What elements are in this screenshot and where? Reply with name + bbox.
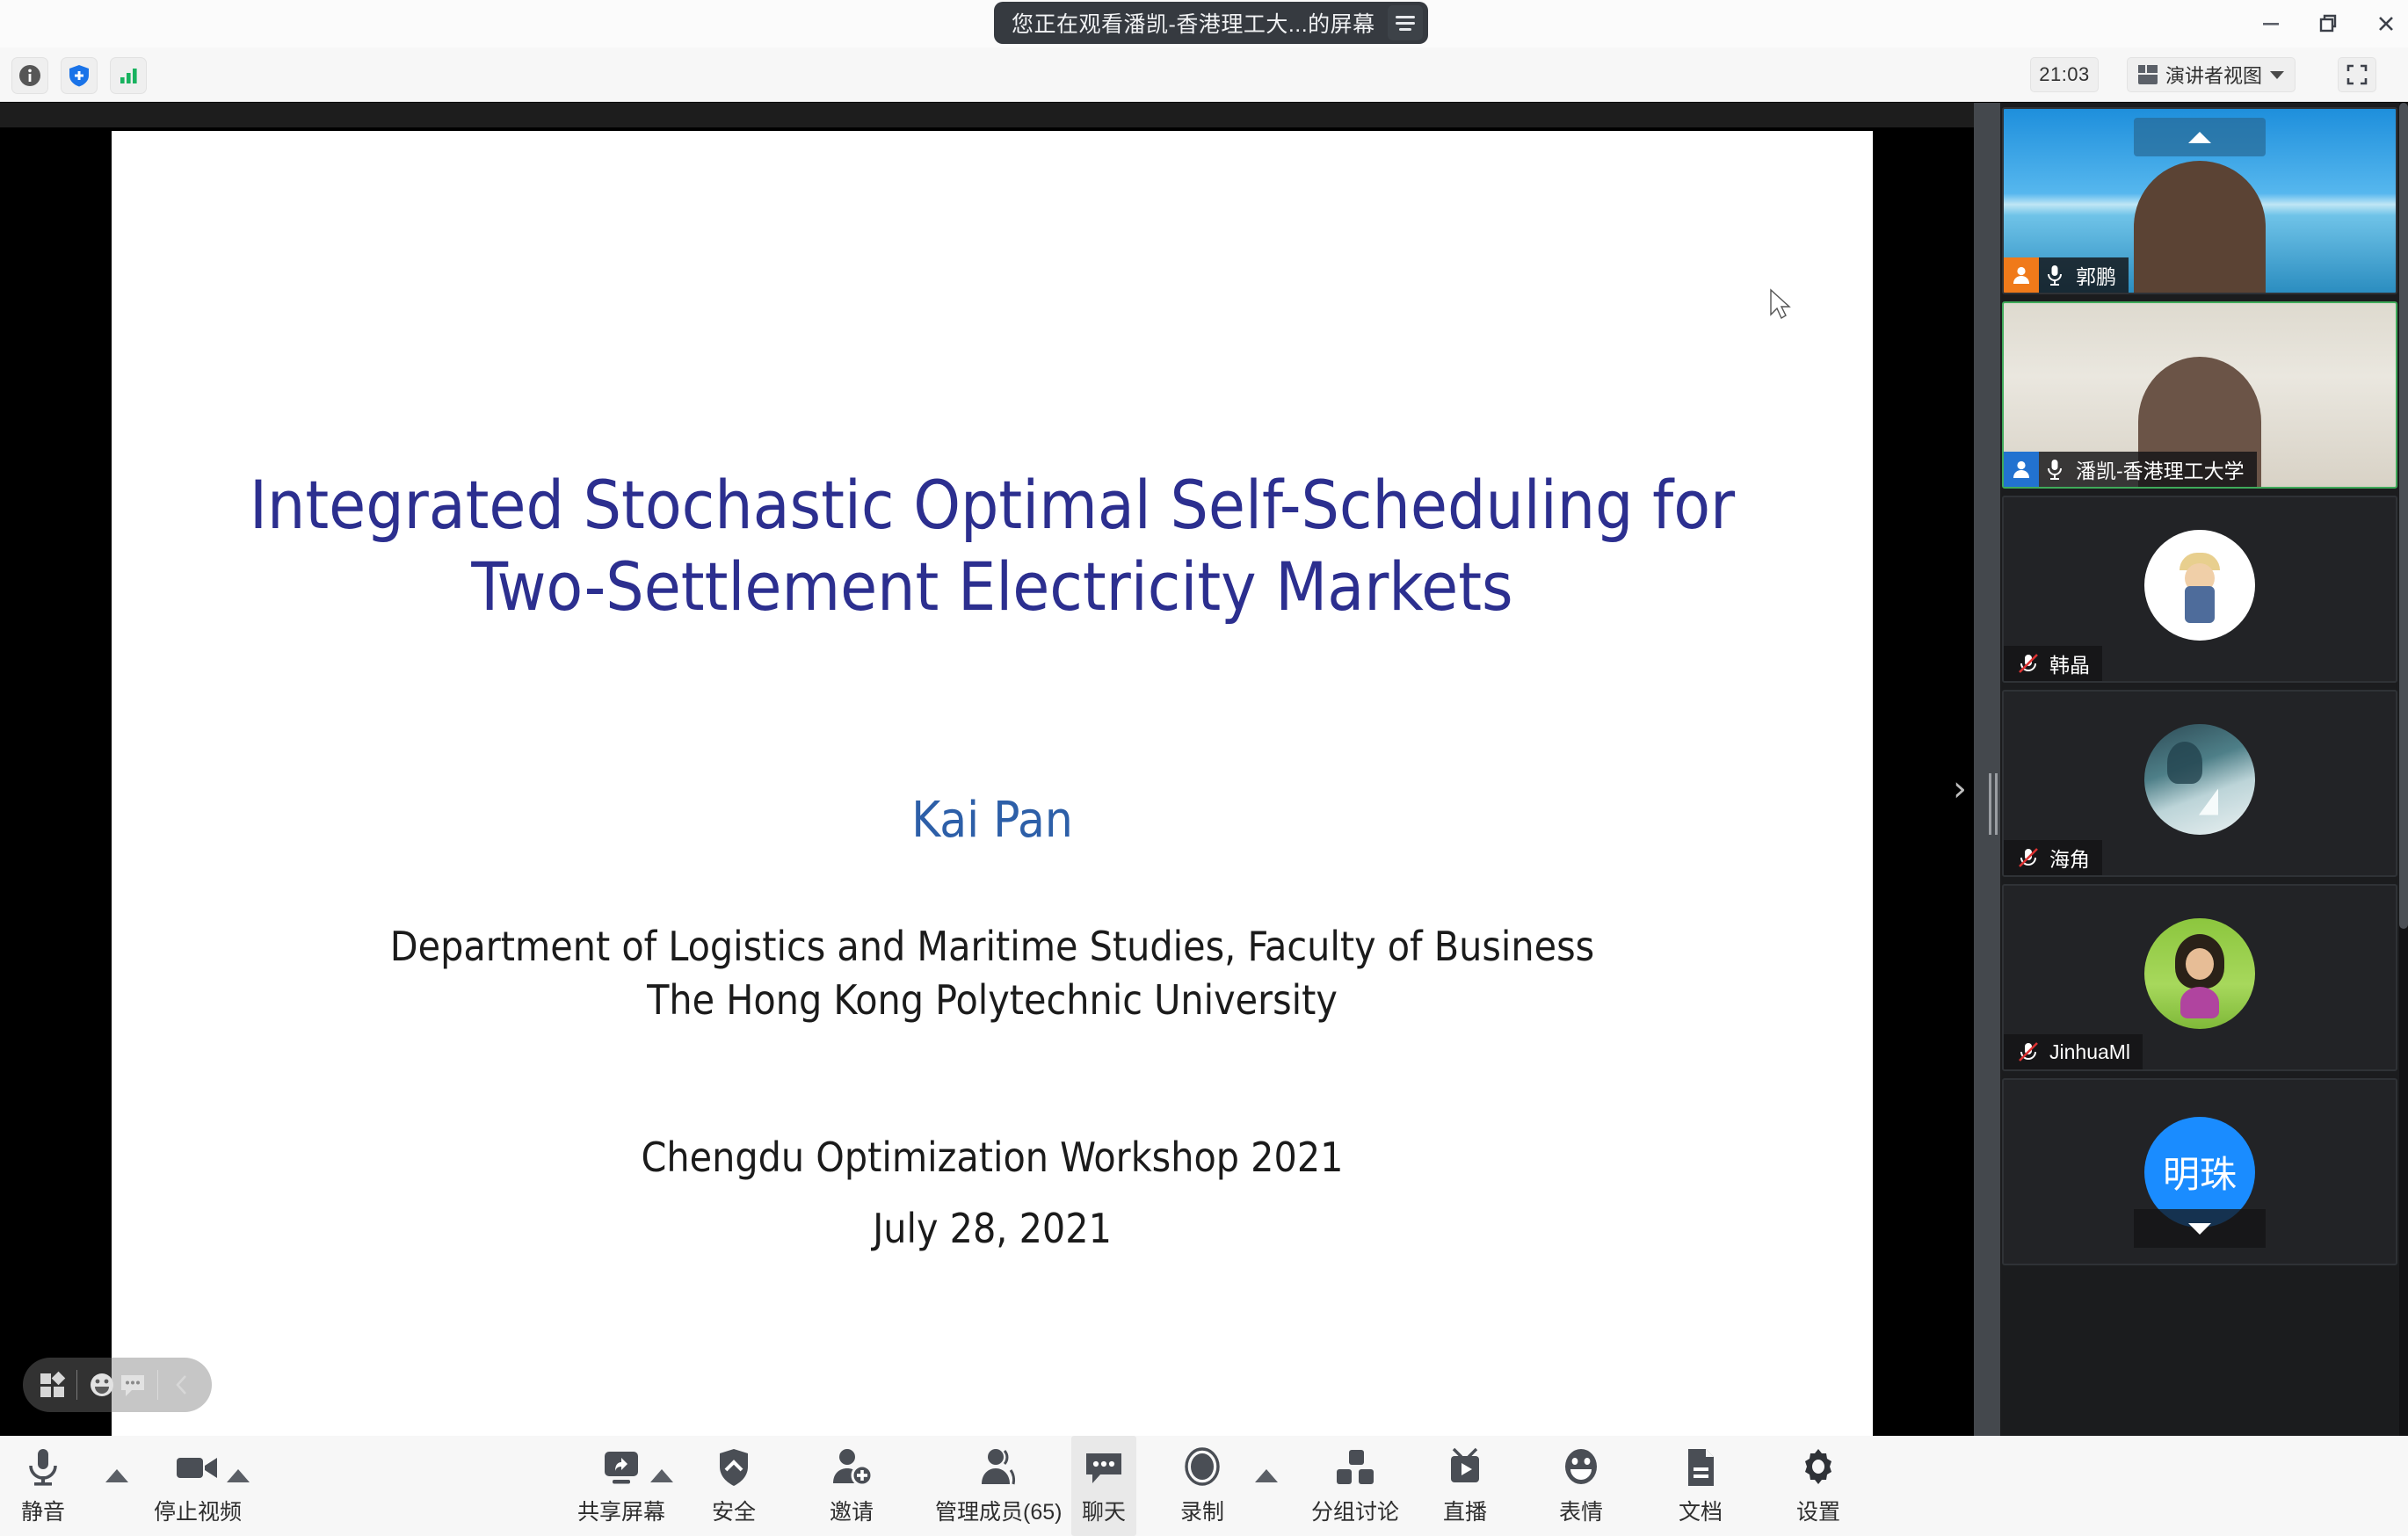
restore-button[interactable] [2301,0,2355,47]
participant-name: 韩晶 [2049,648,2090,678]
breakout-rooms-button[interactable]: 分组讨论 [1301,1443,1410,1529]
participant-name-bar: 海角 [2004,840,2102,875]
slide-venue-name: Chengdu Optimization Workshop 2021 [112,1122,1873,1193]
live-broadcast-icon [1444,1446,1486,1489]
collapse-left-icon[interactable] [167,1372,198,1398]
shield-plus-icon[interactable] [61,57,98,94]
share-screen-label: 共享屏幕 [577,1495,665,1526]
microphone-muted-icon [2013,1040,2044,1063]
slide-title: Integrated Stochastic Optimal Self-Sched… [112,465,1873,627]
emoji-icon[interactable] [86,1370,117,1400]
breakout-rooms-label: 分组讨论 [1311,1495,1399,1526]
speaker-view-icon [2138,65,2158,84]
slide-venue: Chengdu Optimization Workshop 2021 July … [112,1122,1873,1264]
share-screen-icon [598,1446,645,1489]
breakout-rooms-icon [1331,1446,1379,1489]
slide-title-line1: Integrated Stochastic Optimal Self-Sched… [112,465,1873,547]
hamburger-icon[interactable] [1388,5,1423,40]
microphone-muted-icon [2013,652,2044,675]
avatar [2144,529,2255,640]
screen-share-banner-text: 您正在观看潘凯-香港理工大...的屏幕 [1012,7,1375,39]
stop-video-label: 停止视频 [154,1495,242,1526]
participant-name-bar: JinhuaMl [2004,1034,2143,1069]
microphone-icon [23,1446,63,1489]
view-mode-selector[interactable]: 演讲者视图 [2127,57,2296,92]
meeting-controls-bar: 静音 停止视频 共享屏幕 安全 邀请 [0,1436,2408,1536]
participants-panel: 郭鹏 潘凯-香港理工大学 [2000,103,2408,1436]
screen-share-banner[interactable]: 您正在观看潘凯-香港理工大...的屏幕 [994,2,1428,44]
share-screen-button[interactable]: 共享屏幕 [567,1443,676,1529]
participant-name: 海角 [2049,843,2090,873]
microphone-muted-icon [2013,846,2044,869]
share-options-caret-icon[interactable] [650,1469,673,1482]
gear-icon [1797,1446,1839,1489]
share-floating-toolbar[interactable] [23,1358,212,1412]
manage-participants-button[interactable]: 管理成员(65) [925,1443,1072,1529]
slide-affiliation-line2: The Hong Kong Polytechnic University [112,974,1873,1027]
participant-name: 郭鹏 [2076,260,2116,290]
participant-name-bar: 韩晶 [2004,646,2102,681]
avatar-initials-text: 明珠 [2163,1145,2237,1199]
mute-label: 静音 [21,1495,65,1526]
participant-name: JinhuaMl [2049,1040,2130,1064]
participant-tile[interactable]: 韩晶 [2002,496,2397,683]
chat-label: 聊天 [1082,1495,1126,1526]
participant-badge-icon [2004,452,2039,487]
participant-tile[interactable]: 潘凯-香港理工大学 [2002,301,2397,489]
close-button[interactable] [2359,0,2408,47]
document-icon [1681,1446,1720,1489]
people-icon [975,1446,1022,1489]
person-add-icon [828,1446,875,1489]
meeting-clock: 21:03 [2030,57,2099,92]
record-options-caret-icon[interactable] [1255,1469,1278,1482]
audio-options-caret-icon[interactable] [105,1469,128,1482]
video-expand-button[interactable] [2134,118,2266,156]
chevron-up-icon [2188,132,2211,143]
documents-label: 文档 [1679,1495,1723,1526]
slide-date: July 28, 2021 [112,1193,1873,1264]
video-options-caret-icon[interactable] [227,1469,250,1482]
presentation-slide: Integrated Stochastic Optimal Self-Sched… [112,131,1873,1536]
host-badge-icon [2004,257,2039,293]
settings-label: 设置 [1796,1495,1840,1526]
record-button[interactable]: 录制 [1170,1443,1235,1529]
chat-bubble-icon [1082,1446,1126,1489]
apps-grid-icon[interactable] [37,1370,68,1400]
documents-button[interactable]: 文档 [1668,1443,1733,1529]
smiley-face-icon [1560,1446,1602,1489]
security-label: 安全 [712,1495,756,1526]
meeting-info-bar: 21:03 演讲者视图 [0,47,2408,102]
invite-button[interactable]: 邀请 [817,1443,886,1529]
participant-tile[interactable]: 明珠 [2002,1078,2397,1265]
minimize-button[interactable] [2244,0,2298,47]
participant-tile[interactable]: 海角 [2002,690,2397,877]
avatar [2144,917,2255,1028]
slide-title-line2: Two-Settlement Electricity Markets [112,547,1873,628]
slide-author: Kai Pan [112,792,1873,849]
participant-name-bar: 潘凯-香港理工大学 [2004,452,2257,487]
record-circle-icon [1181,1446,1223,1489]
participant-tile[interactable]: JinhuaMl [2002,884,2397,1071]
live-broadcast-button[interactable]: 直播 [1432,1443,1498,1529]
participant-tile[interactable]: 郭鹏 [2002,107,2397,294]
view-mode-label: 演讲者视图 [2165,61,2262,89]
stop-video-button[interactable]: 停止视频 [143,1443,252,1529]
fullscreen-icon[interactable] [2338,57,2376,92]
video-collapse-button[interactable] [2134,1209,2266,1248]
participant-video [2134,161,2266,293]
shared-screen-stage: Integrated Stochastic Optimal Self-Sched… [0,103,1974,1436]
avatar [2144,723,2255,834]
info-icon[interactable] [11,57,48,94]
slide-affiliation: Department of Logistics and Maritime Stu… [112,920,1873,1026]
settings-button[interactable]: 设置 [1786,1443,1851,1529]
reactions-label: 表情 [1559,1495,1603,1526]
microphone-icon [2039,264,2071,286]
shared-screen-top-strip [0,103,1974,127]
panel-drag-handle[interactable] [1987,773,1999,835]
toolbar-divider-2 [157,1370,158,1400]
signal-bars-icon[interactable] [110,57,147,94]
invite-label: 邀请 [830,1495,874,1526]
live-broadcast-label: 直播 [1443,1495,1487,1526]
chevron-right-icon[interactable]: › [1953,772,1967,807]
scrollbar-thumb[interactable] [2399,103,2408,929]
chat-button[interactable]: 聊天 [1071,1436,1136,1536]
toolbar-divider [76,1370,77,1400]
manage-participants-label: 管理成员(65) [935,1495,1062,1526]
microphone-icon [2039,458,2071,481]
mouse-cursor [1769,288,1795,325]
security-button[interactable]: 安全 [701,1443,766,1529]
slide-affiliation-line1: Department of Logistics and Maritime Stu… [112,920,1873,974]
window-title-bar: 您正在观看潘凯-香港理工大...的屏幕 [0,0,2408,47]
record-label: 录制 [1180,1495,1224,1526]
participants-scrollbar[interactable] [2399,103,2408,1436]
chevron-down-icon[interactable] [2270,71,2284,79]
chevron-down-icon [2188,1223,2211,1235]
participant-name: 潘凯-香港理工大学 [2076,454,2245,484]
chat-bubble-icon[interactable] [118,1370,149,1400]
mute-button[interactable]: 静音 [11,1443,76,1529]
reactions-button[interactable]: 表情 [1549,1443,1614,1529]
video-camera-icon [173,1446,222,1489]
shield-icon [714,1446,754,1489]
participant-name-bar: 郭鹏 [2004,257,2129,293]
